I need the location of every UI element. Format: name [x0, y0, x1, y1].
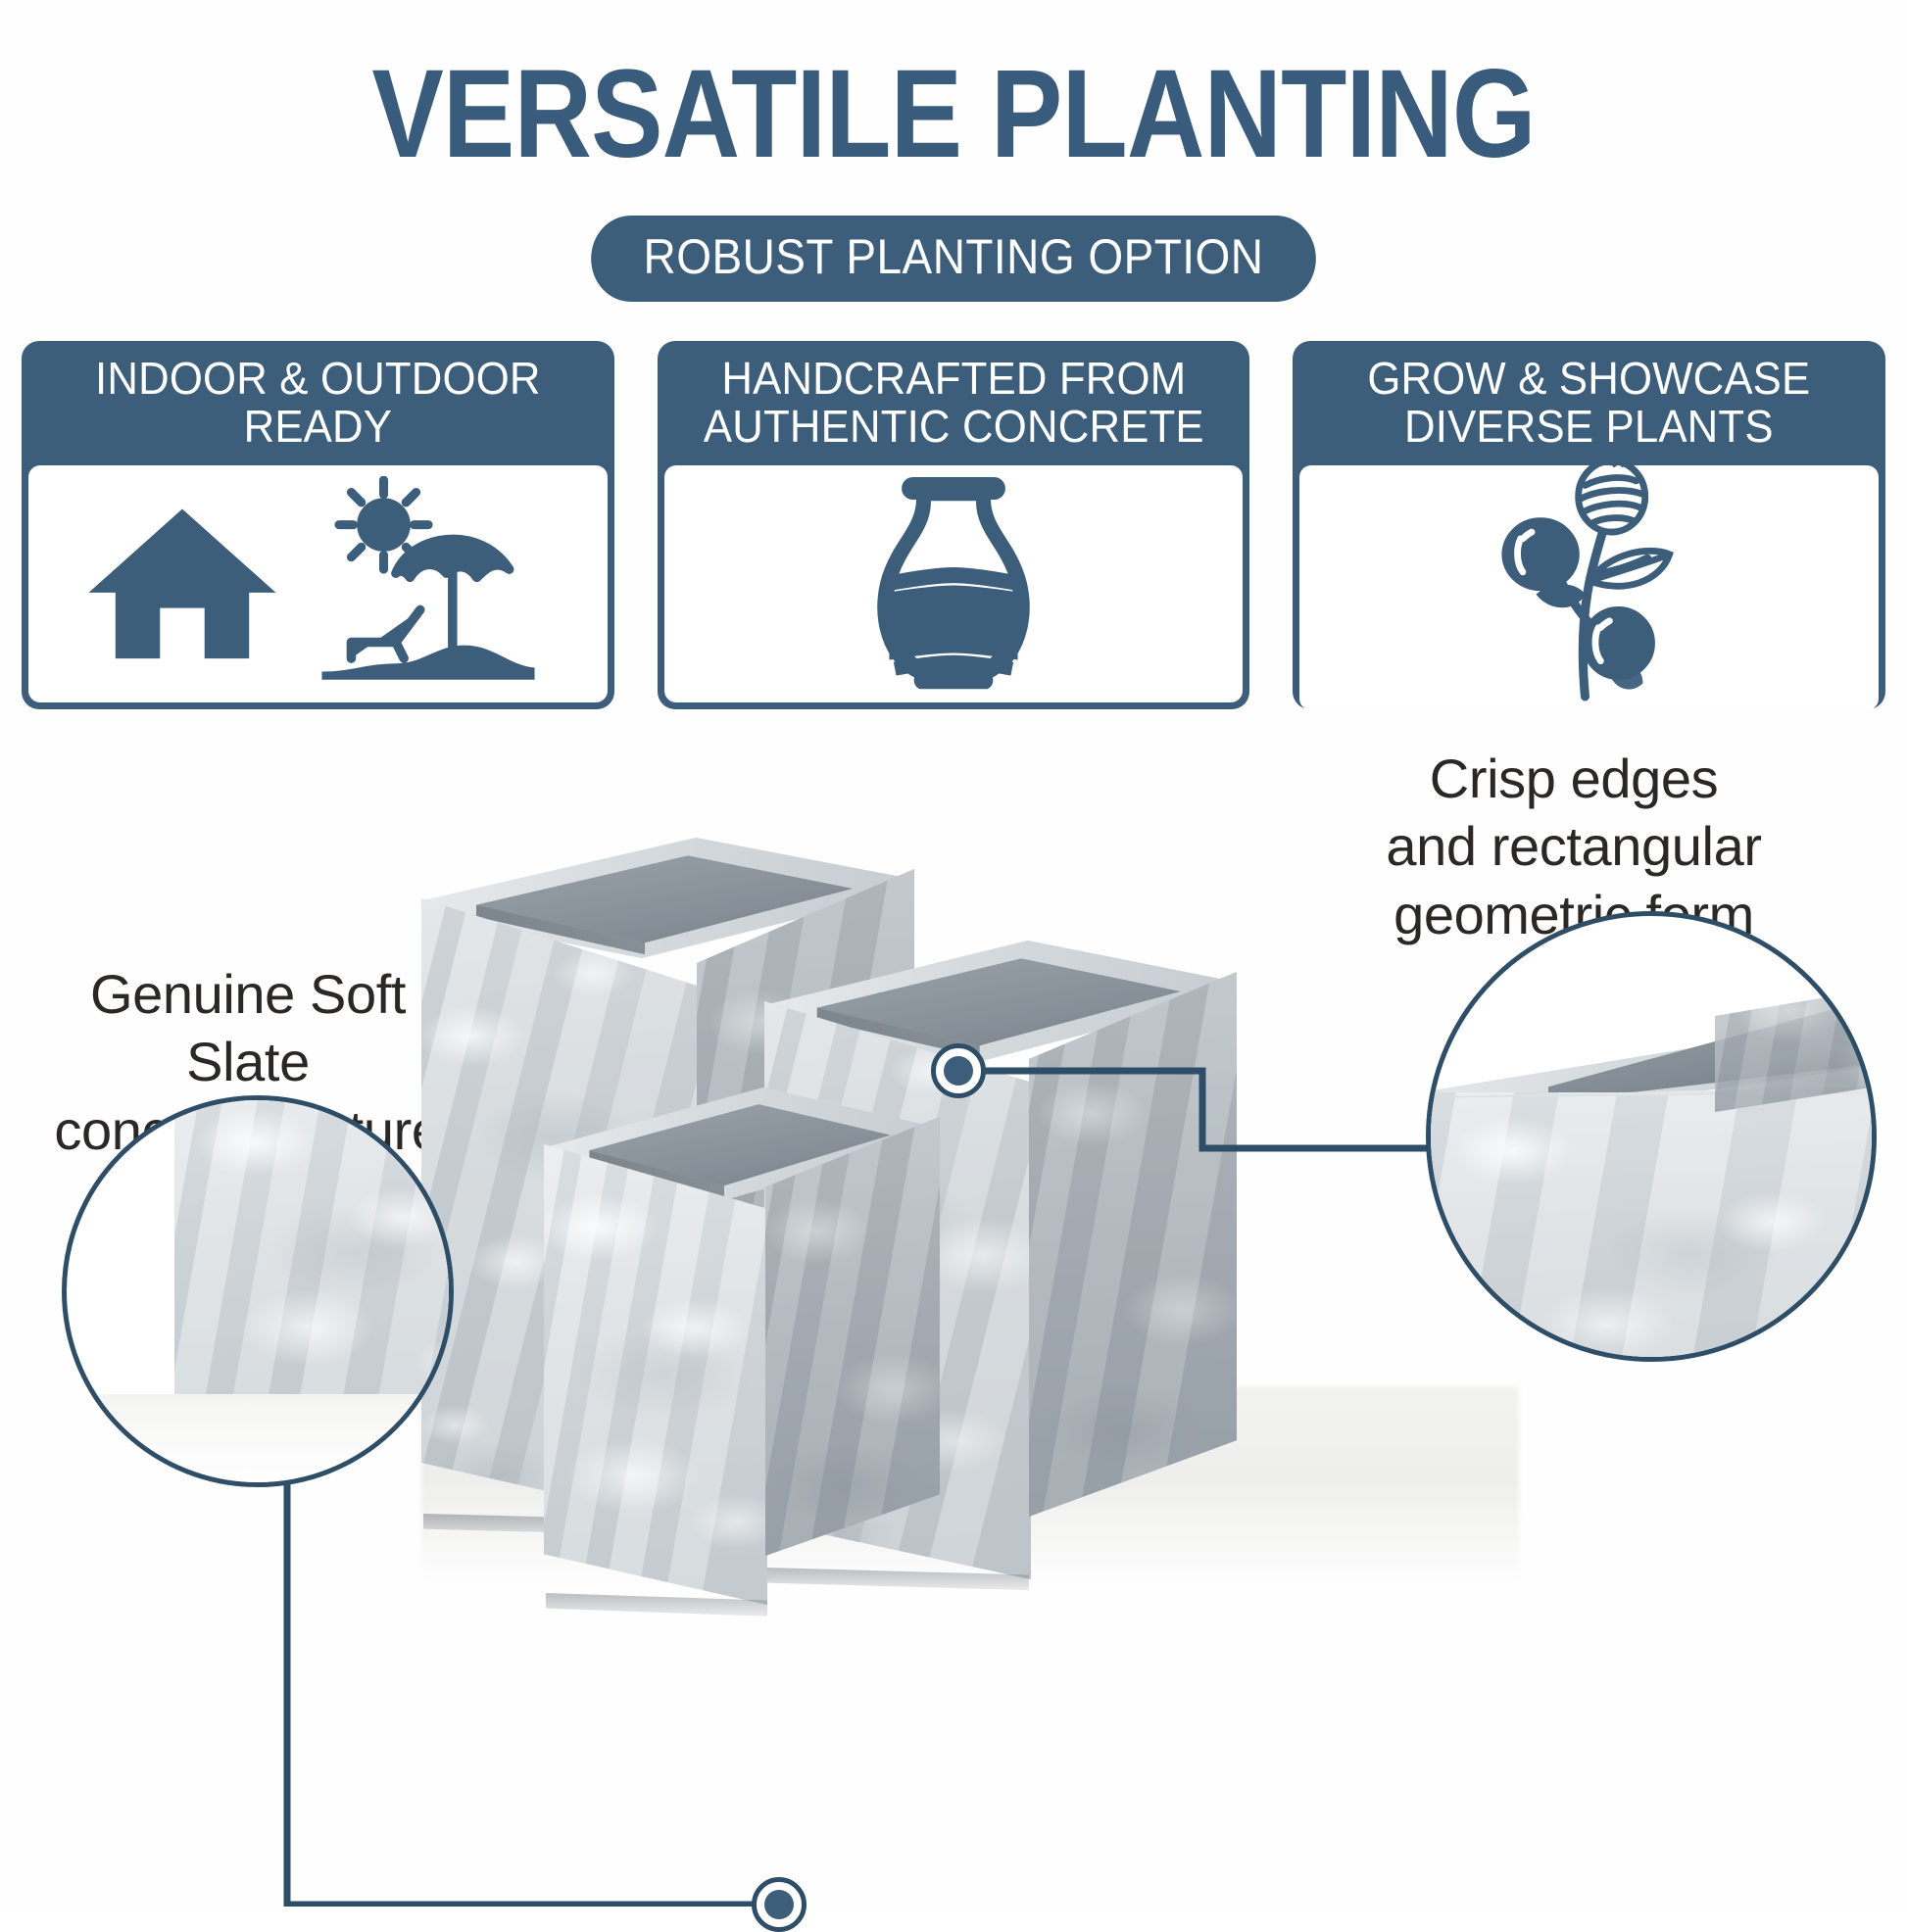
feature-card-heading-line2: AUTHENTIC CONCRETE: [685, 403, 1222, 451]
beach-scene-icon: [306, 476, 551, 692]
feature-card-heading: INDOOR & OUTDOOR READY: [36, 341, 599, 465]
feature-card-heading-line1: GROW & SHOWCASE: [1321, 355, 1858, 403]
planter-medium-side-face: [1029, 972, 1237, 1517]
feature-card-heading: GROW & SHOWCASE DIVERSE PLANTS: [1307, 341, 1870, 465]
infographic-page: VERSATILE PLANTING ROBUST PLANTING OPTIO…: [0, 0, 1907, 1907]
feature-card-heading-line2: DIVERSE PLANTS: [1321, 403, 1858, 451]
planter-small-front-face: [544, 1144, 767, 1605]
feature-card-heading-line2: READY: [49, 403, 586, 451]
page-title: VERSATILE PLANTING: [133, 51, 1774, 179]
subtitle-badge: ROBUST PLANTING OPTION: [591, 216, 1316, 302]
feature-card-handcrafted-authentic-concrete[interactable]: HANDCRAFTED FROM AUTHENTIC CONCRETE: [658, 341, 1250, 709]
feature-card-icons: [28, 465, 608, 702]
feature-card-icons: [1299, 465, 1879, 710]
feature-card-icons: [664, 465, 1244, 702]
detail-circle-soft-slate-texture: [62, 1095, 454, 1487]
marker-rim-edge[interactable]: [931, 1043, 986, 1098]
detail-surface-slab: [174, 1095, 454, 1424]
detail-surface-floor: [67, 1394, 454, 1482]
planter-small-side-face: [765, 1117, 940, 1556]
vase-icon: [856, 469, 1051, 700]
feature-card-grow-showcase-diverse-plants[interactable]: GROW & SHOWCASE DIVERSE PLANTS: [1293, 341, 1885, 709]
marker-surface-texture[interactable]: [752, 1877, 807, 1932]
feature-card-heading-line1: INDOOR & OUTDOOR: [49, 355, 586, 403]
detail-circle-crisp-edges: [1426, 911, 1877, 1362]
feature-card-heading: HANDCRAFTED FROM AUTHENTIC CONCRETE: [672, 341, 1235, 465]
feature-card-row: INDOOR & OUTDOOR READY: [22, 341, 1885, 709]
house-icon: [84, 499, 280, 670]
feature-card-heading-line1: HANDCRAFTED FROM: [685, 355, 1222, 403]
planter-small-base-shadow: [546, 1593, 767, 1626]
berry-sprig-icon: [1477, 465, 1702, 710]
detail-front-face: [1426, 1092, 1877, 1362]
feature-card-indoor-outdoor-ready[interactable]: INDOOR & OUTDOOR READY: [22, 341, 614, 709]
planter-small: [544, 1087, 936, 1695]
subtitle-badge-wrap: ROBUST PLANTING OPTION: [0, 216, 1907, 302]
